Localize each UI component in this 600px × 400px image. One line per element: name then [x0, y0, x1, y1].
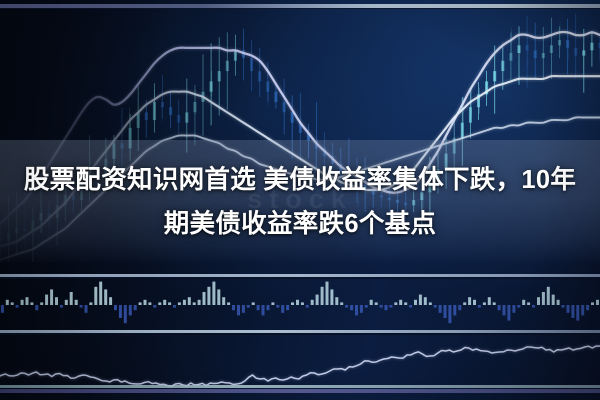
- vignette-overlay: [0, 0, 600, 400]
- stock-news-banner: stock 股票配资知识网首选 美债收益率集体下跌，10年 期美债收益率跌6个基…: [0, 0, 600, 400]
